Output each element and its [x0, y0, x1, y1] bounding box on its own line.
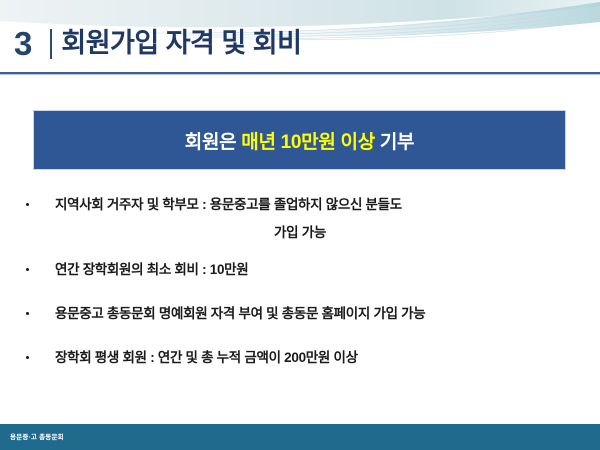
- highlight-banner: 회원은 매년 10만원 이상 기부: [33, 110, 566, 170]
- slide-footer: 용문중·고 총동문회: [0, 424, 600, 450]
- slide-number: 3: [14, 27, 31, 60]
- list-item-text: 연간 장학회원의 최소 회비 : 10만원: [55, 262, 248, 277]
- bullet-dot-icon: [26, 356, 29, 359]
- slide-title-row: 3 회원가입 자격 및 회비: [0, 18, 600, 68]
- banner-suffix: 기부: [375, 132, 414, 153]
- banner-highlight: 매년 10만원 이상: [241, 132, 375, 153]
- list-item: 연간 장학회원의 최소 회비 : 10만원: [0, 261, 600, 279]
- footer-label: 용문중·고 총동문회: [10, 431, 64, 441]
- banner-prefix: 회원은: [185, 132, 242, 153]
- presentation-slide: 3 회원가입 자격 및 회비 회원은 매년 10만원 이상 기부 지역사회 거주…: [0, 0, 600, 450]
- page-title: 회원가입 자격 및 회비: [61, 30, 301, 57]
- bullet-dot-icon: [26, 203, 29, 206]
- title-divider-shadow: [0, 74, 600, 75]
- bullet-dot-icon: [26, 312, 29, 315]
- banner-text: 회원은 매년 10만원 이상 기부: [185, 127, 414, 154]
- title-separator-bar: [50, 29, 52, 59]
- list-item-text: 용문중고 총동문회 명예회원 자격 부여 및 총동문 홈페이지 가입 가능: [55, 306, 425, 321]
- list-item-text: 장학회 평생 회원 : 연간 및 총 누적 금액이 200만원 이상: [55, 350, 358, 365]
- bullet-list: 지역사회 거주자 및 학부모 : 용문중고를 졸업하지 않으신 분들도 가입 가…: [0, 196, 600, 388]
- list-item: 장학회 평생 회원 : 연간 및 총 누적 금액이 200만원 이상: [0, 349, 600, 367]
- list-item-text-continued: 가입 가능: [20, 221, 580, 241]
- bullet-dot-icon: [26, 268, 29, 271]
- list-item: 지역사회 거주자 및 학부모 : 용문중고를 졸업하지 않으신 분들도 가입 가…: [0, 196, 600, 241]
- list-item: 용문중고 총동문회 명예회원 자격 부여 및 총동문 홈페이지 가입 가능: [0, 305, 600, 323]
- list-item-text: 지역사회 거주자 및 학부모 : 용문중고를 졸업하지 않으신 분들도: [55, 197, 402, 212]
